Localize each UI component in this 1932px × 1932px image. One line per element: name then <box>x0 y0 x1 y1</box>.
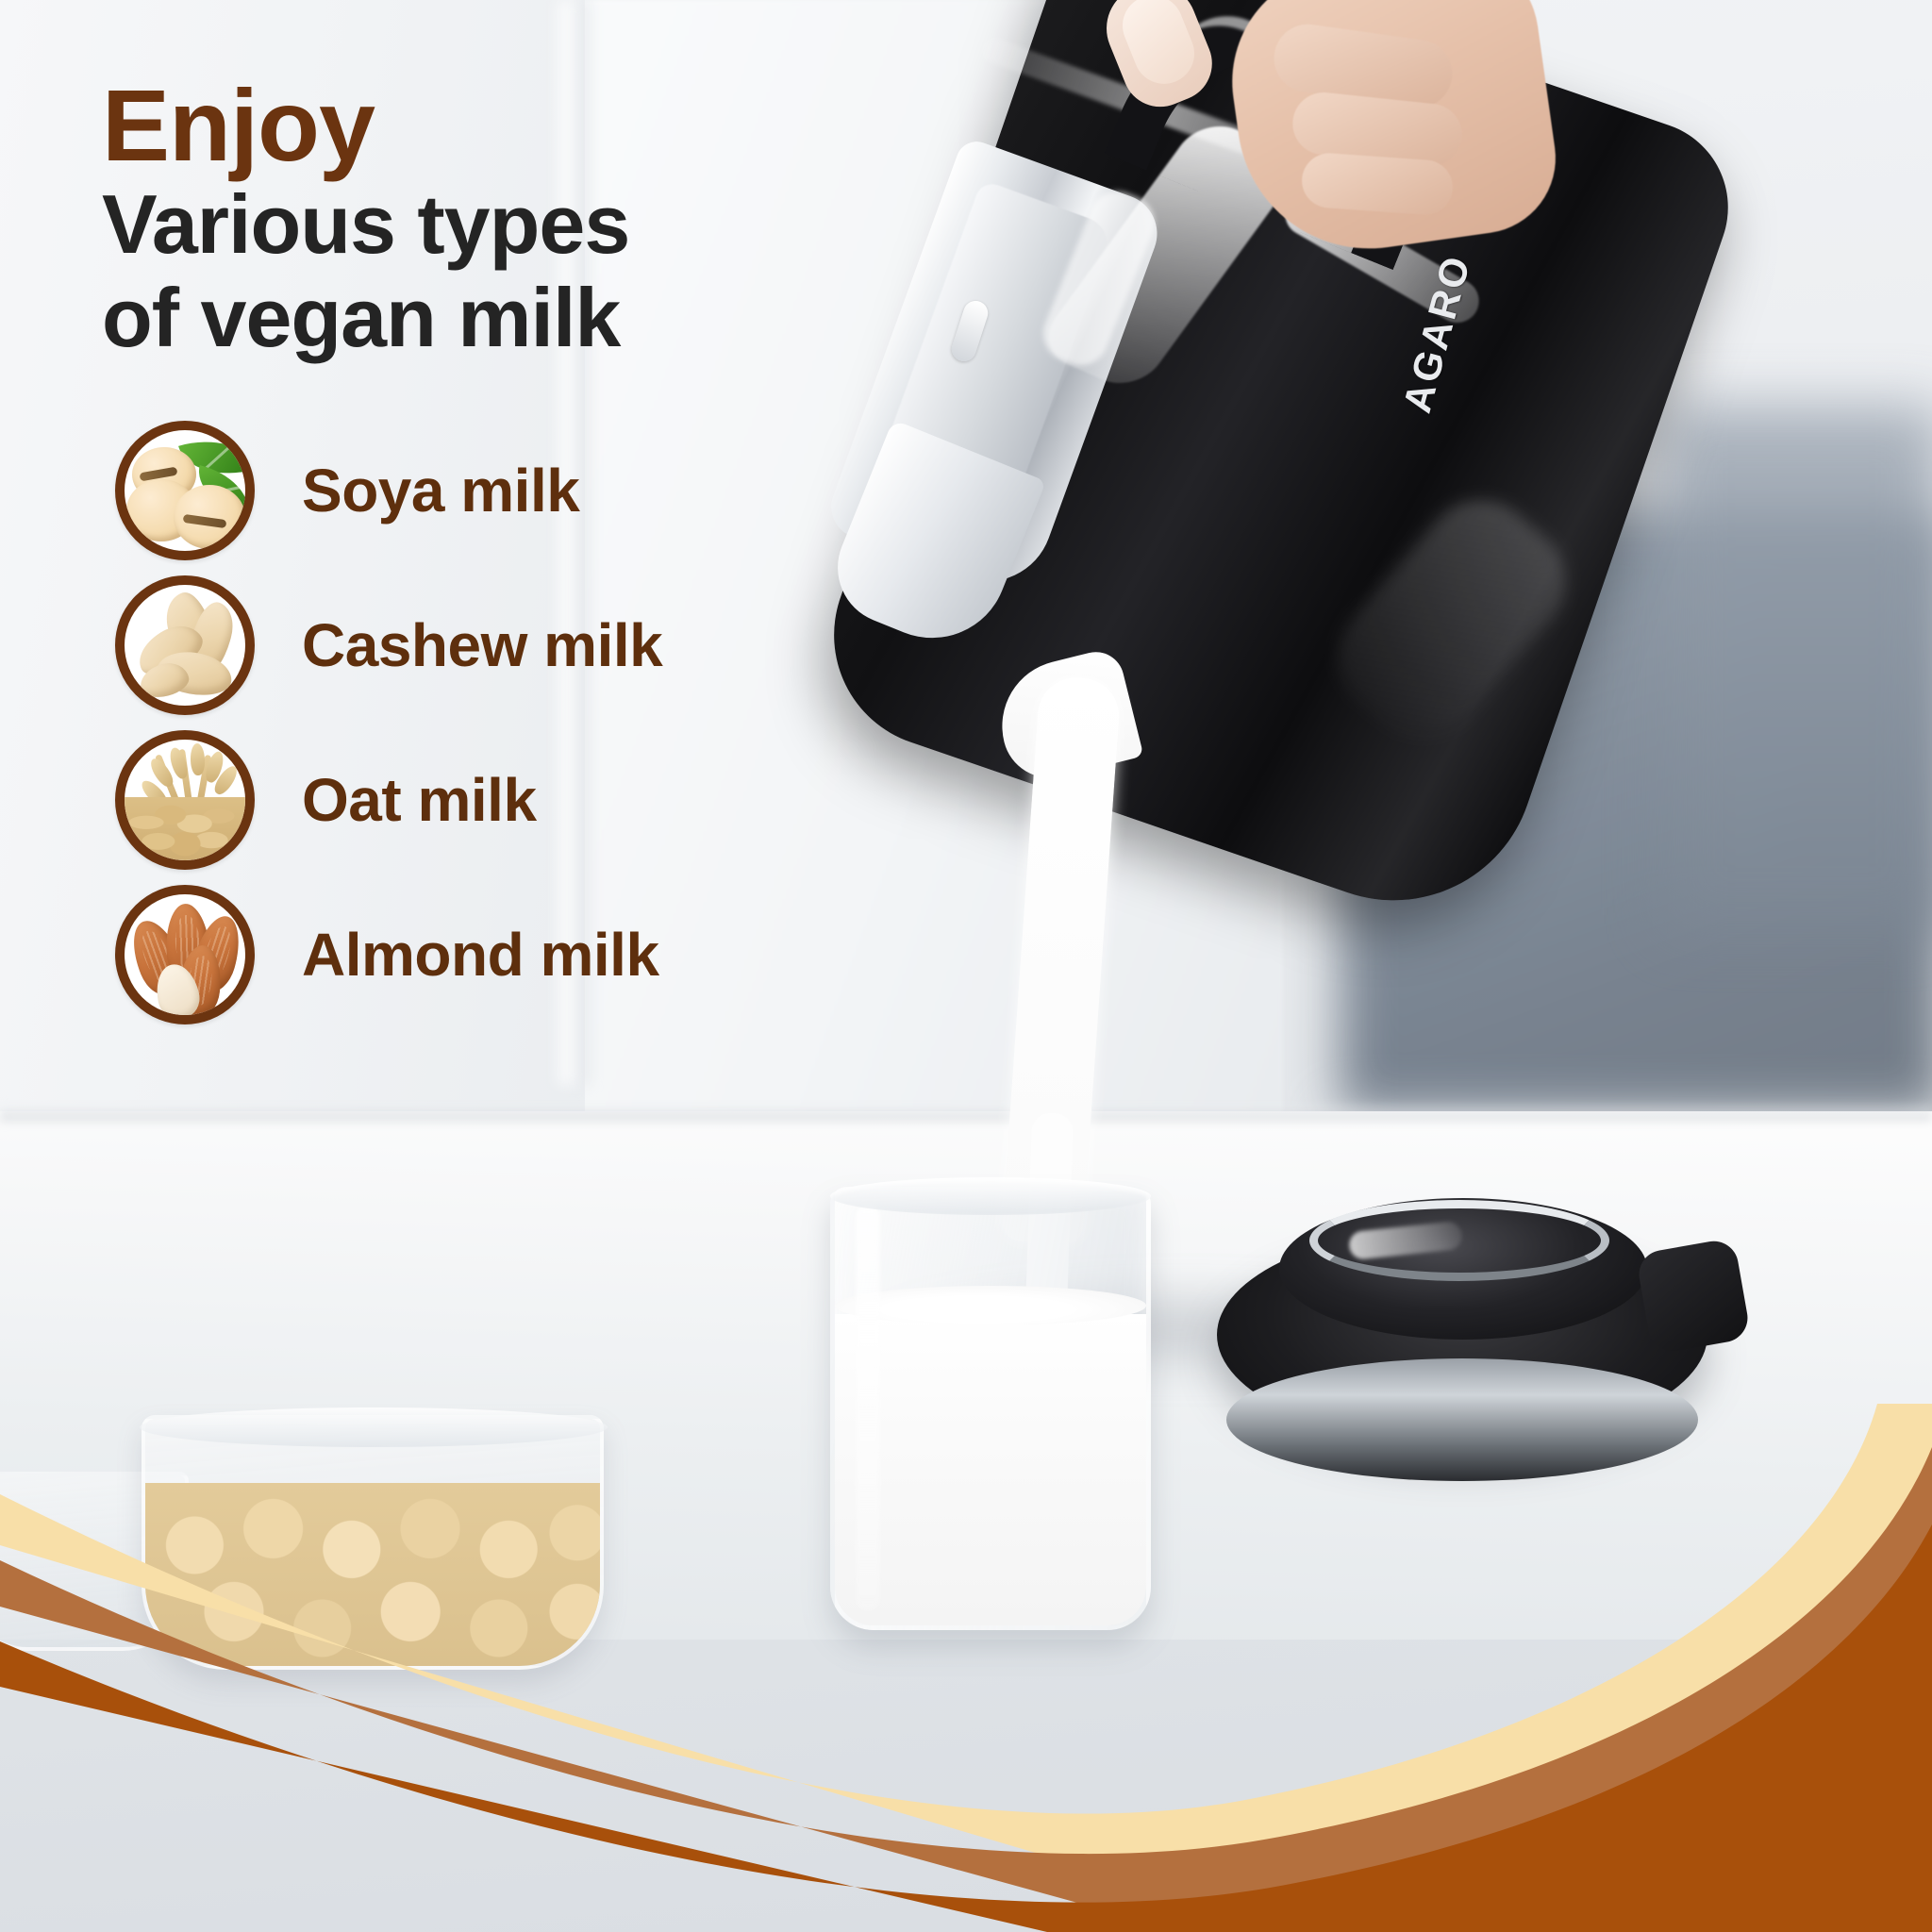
counter-edge <box>0 1106 1932 1121</box>
headline-line-3: of vegan milk <box>102 273 932 364</box>
soybeans-in-bowl <box>142 1483 604 1670</box>
kettle-base-ring <box>1226 1358 1698 1481</box>
milk-fill <box>835 1314 1146 1625</box>
headline-enjoy: Enjoy <box>102 74 932 177</box>
finger <box>1300 151 1455 216</box>
list-item[interactable]: Soya milk <box>115 415 964 566</box>
glass-of-milk <box>830 1187 1151 1630</box>
list-item[interactable]: Oat milk <box>115 724 964 875</box>
list-item-label: Cashew milk <box>302 610 662 680</box>
milk-types-list: Soya milk Cashew milk <box>115 415 964 1034</box>
milk-surface <box>835 1286 1146 1325</box>
bowl-of-soybeans <box>142 1415 604 1670</box>
list-item-label: Soya milk <box>302 456 579 525</box>
bowl-rim <box>140 1407 608 1447</box>
glass-highlight <box>856 1205 880 1610</box>
poster-canvas: AGARO Enjoy Various types of vegan milk <box>0 0 1932 1932</box>
kettle-gloss <box>1314 477 1589 761</box>
almond-icon <box>115 885 255 1024</box>
headline-line-2: Various types <box>102 179 932 271</box>
kettle-base-handle <box>1635 1238 1751 1356</box>
electric-kettle: AGARO <box>830 0 1932 906</box>
list-item-label: Oat milk <box>302 765 537 835</box>
soybean-icon <box>115 421 255 560</box>
list-item-label: Almond milk <box>302 920 659 990</box>
glass-rim <box>830 1177 1151 1215</box>
list-item[interactable]: Almond milk <box>115 879 964 1030</box>
headline-block: Enjoy Various types of vegan milk <box>102 74 932 364</box>
oat-icon <box>115 730 255 870</box>
cashew-icon <box>115 575 255 715</box>
list-item[interactable]: Cashew milk <box>115 570 964 721</box>
